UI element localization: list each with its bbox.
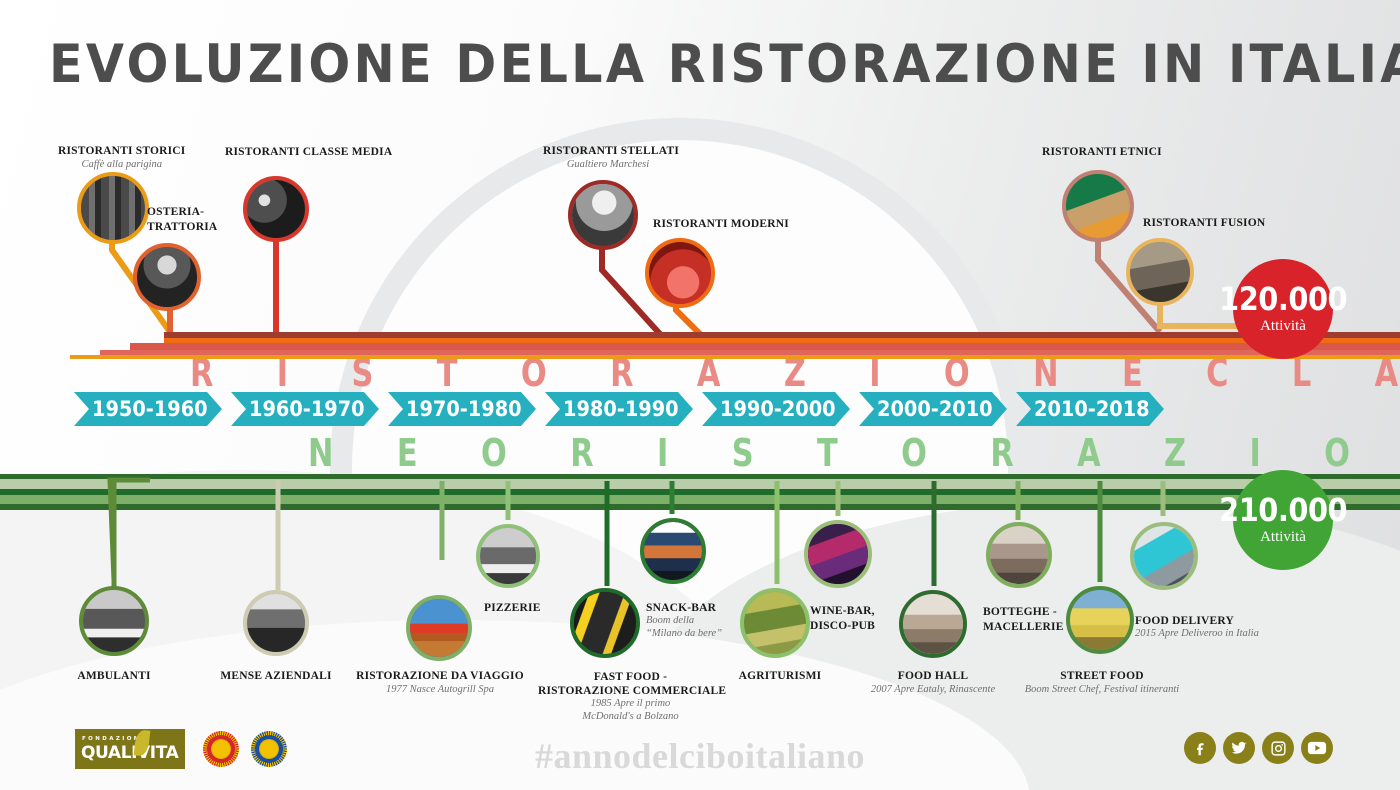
- ristoranti-stellati-photo[interactable]: [568, 180, 638, 250]
- qualivita-logo-big: QUALIVITA: [81, 743, 178, 763]
- timeline-segment-1980-1990[interactable]: 1980-1990: [545, 392, 693, 426]
- timeline-segment-1970-1980[interactable]: 1970-1980: [388, 392, 536, 426]
- ambulanti-label: AMBULANTI: [49, 670, 179, 684]
- ristoranti-storici-photo[interactable]: [77, 172, 149, 244]
- label-title: RISTORAZIONE DA VIAGGIO: [356, 670, 524, 682]
- label-subtitle: Gualtiero Marchesi: [543, 159, 673, 172]
- label-title: RISTORANTI STELLATI: [543, 145, 679, 157]
- ristoranti-etnici-photo[interactable]: [1062, 170, 1134, 242]
- timeline-label: 2010-2018: [1034, 392, 1150, 426]
- badge-210000: 210.000 Attività: [1233, 470, 1333, 570]
- snack-bar-photo[interactable]: [640, 518, 706, 584]
- badge-number: 120.000: [1219, 283, 1347, 315]
- label-subtitle: 2007 Apre Eataly, Rinascente: [858, 684, 1008, 697]
- ristoranti-fusion-label: RISTORANTI FUSION: [1143, 217, 1265, 231]
- badge-120000: 120.000 Attività: [1233, 259, 1333, 359]
- timeline-segment-2000-2010[interactable]: 2000-2010: [859, 392, 1007, 426]
- youtube-icon[interactable]: [1301, 732, 1333, 764]
- wine-bar-label: WINE-BAR,DISCO-PUB: [810, 604, 875, 634]
- food-hall-photo[interactable]: [899, 590, 967, 658]
- label-subtitle: Caffè alla parigina: [58, 159, 185, 172]
- ristorazione-da-viaggio-photo[interactable]: [406, 595, 472, 661]
- timeline-label: 1970-1980: [406, 392, 522, 426]
- mense-aziendali-photo[interactable]: [243, 590, 309, 656]
- ambulanti-photo[interactable]: [79, 586, 149, 656]
- agriturismi-label: AGRITURISMI: [715, 670, 845, 684]
- timeline-segment-2010-2018[interactable]: 2010-2018: [1016, 392, 1164, 426]
- dop-seal: [203, 731, 239, 767]
- osteria-trattoria-label: OSTERIA-TRATTORIA: [147, 205, 217, 235]
- food-delivery-label: FOOD DELIVERY 2015 Apre Deliveroo in Ita…: [1135, 615, 1259, 641]
- ristoranti-fusion-photo[interactable]: [1126, 238, 1194, 306]
- label-title: RISTORANTI STORICI: [58, 145, 185, 157]
- wine-bar-photo[interactable]: [804, 520, 872, 588]
- fast-food-photo[interactable]: [570, 588, 640, 658]
- badge-caption: Attività: [1260, 529, 1306, 546]
- ristoranti-classe-media-label: RISTORANTI CLASSE MEDIA: [225, 146, 392, 160]
- label-title: FOOD DELIVERY: [1135, 615, 1234, 627]
- instagram-icon[interactable]: [1262, 732, 1294, 764]
- fast-food-label: FAST FOOD -RISTORAZIONE COMMERCIALE 1985…: [538, 670, 723, 723]
- pizzerie-label: PIZZERIE: [484, 602, 541, 616]
- label-subtitle: 1977 Nasce Autogrill Spa: [355, 684, 525, 697]
- ristoranti-storici-label: RISTORANTI STORICI Caffè alla parigina: [58, 145, 185, 171]
- label-title: STREET FOOD: [1060, 670, 1143, 682]
- timeline-label: 2000-2010: [877, 392, 993, 426]
- badge-number: 210.000: [1219, 494, 1347, 526]
- facebook-icon[interactable]: [1184, 732, 1216, 764]
- ristoranti-classe-media-photo[interactable]: [243, 176, 309, 242]
- ristoranti-etnici-label: RISTORANTI ETNICI: [1042, 146, 1162, 160]
- timeline: 1950-1960 1960-1970 1970-1980 1980-1990 …: [74, 392, 1173, 426]
- food-delivery-photo[interactable]: [1130, 522, 1198, 590]
- pizzerie-photo[interactable]: [476, 524, 540, 588]
- food-hall-label: FOOD HALL 2007 Apre Eataly, Rinascente: [858, 670, 1008, 696]
- timeline-segment-1960-1970[interactable]: 1960-1970: [231, 392, 379, 426]
- page-title: EVOLUZIONE DELLA RISTORAZIONE IN ITALIA: [49, 34, 1351, 95]
- ristoranti-stellati-label: RISTORANTI STELLATI Gualtiero Marchesi: [543, 145, 673, 171]
- agriturismi-photo[interactable]: [740, 588, 810, 658]
- ristorazione-da-viaggio-label: RISTORAZIONE DA VIAGGIO 1977 Nasce Autog…: [355, 670, 525, 696]
- infographic-canvas: EVOLUZIONE DELLA RISTORAZIONE IN ITALIA …: [0, 0, 1400, 790]
- timeline-segment-1950-1960[interactable]: 1950-1960: [74, 392, 222, 426]
- timeline-label: 1990-2000: [720, 392, 836, 426]
- street-food-photo[interactable]: [1066, 586, 1134, 654]
- timeline-label: 1980-1990: [563, 392, 679, 426]
- ristoranti-moderni-photo[interactable]: [645, 238, 715, 308]
- botteghe-macellerie-photo[interactable]: [986, 522, 1052, 588]
- snack-bar-label: SNACK-BAR Boom della“Milano da bere”: [646, 602, 722, 640]
- label-subtitle: Boom Street Chef, Festival itineranti: [1022, 684, 1182, 697]
- igp-seal: [251, 731, 287, 767]
- ristoranti-moderni-label: RISTORANTI MODERNI: [653, 218, 789, 232]
- timeline-segment-1990-2000[interactable]: 1990-2000: [702, 392, 850, 426]
- timeline-label: 1950-1960: [92, 392, 208, 426]
- qualivita-logo[interactable]: FONDAZIONE QUALIVITA: [75, 729, 185, 769]
- twitter-icon[interactable]: [1223, 732, 1255, 764]
- timeline-label: 1960-1970: [249, 392, 365, 426]
- label-title: FOOD HALL: [898, 670, 969, 682]
- label-subtitle: 2015 Apre Deliveroo in Italia: [1135, 628, 1259, 641]
- botteghe-macellerie-label: BOTTEGHE -MACELLERIE: [983, 605, 1064, 635]
- osteria-trattoria-photo[interactable]: [133, 243, 201, 311]
- street-food-label: STREET FOOD Boom Street Chef, Festival i…: [1022, 670, 1182, 696]
- mense-aziendali-label: MENSE AZIENDALI: [211, 670, 341, 684]
- badge-caption: Attività: [1260, 318, 1306, 335]
